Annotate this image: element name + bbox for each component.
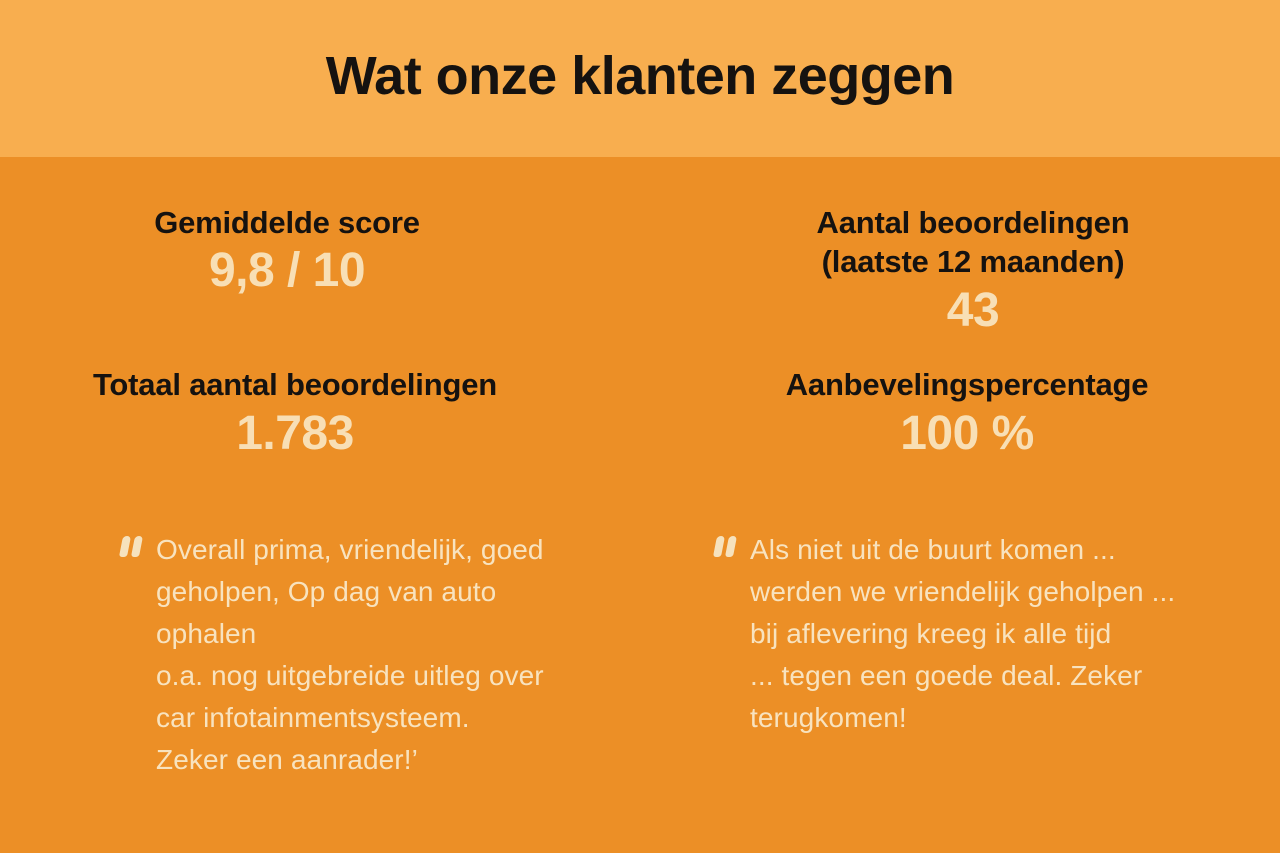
stat-label: Totaal aantal beoordelingen <box>93 365 497 404</box>
stat-value: 9,8 / 10 <box>209 244 365 298</box>
testimonial-right: Als niet uit de buurt komen ... werden w… <box>680 529 1240 781</box>
stat-review-count-12-months: Aantal beoordelingen (laatste 12 maanden… <box>640 203 1280 337</box>
page-title: Wat onze klanten zeggen <box>326 48 955 109</box>
double-quote-icon <box>120 536 146 566</box>
testimonial-text: Overall prima, vriendelijk, goed geholpe… <box>156 529 574 781</box>
stat-value: 43 <box>947 284 999 338</box>
testimonials: Overall prima, vriendelijk, goed geholpe… <box>0 461 1280 797</box>
stats-and-quotes-area: Gemiddelde score 9,8 / 10 Aantal beoorde… <box>0 157 1280 853</box>
stat-total-reviews: Totaal aantal beoordelingen 1.783 <box>0 365 640 460</box>
double-quote-icon <box>714 536 740 566</box>
stats-row-one: Gemiddelde score 9,8 / 10 Aantal beoorde… <box>0 157 1280 337</box>
stat-value: 100 % <box>900 407 1034 461</box>
stat-value: 1.783 <box>236 407 354 461</box>
header-banner: Wat onze klanten zeggen <box>0 0 1280 157</box>
stat-average-score: Gemiddelde score 9,8 / 10 <box>0 203 640 337</box>
testimonial-text: Als niet uit de buurt komen ... werden w… <box>750 529 1175 739</box>
stat-label: Aantal beoordelingen (laatste 12 maanden… <box>817 203 1130 282</box>
reviews-panel: Wat onze klanten zeggen Gemiddelde score… <box>0 0 1280 853</box>
testimonial-left: Overall prima, vriendelijk, goed geholpe… <box>40 529 600 781</box>
stat-label: Gemiddelde score <box>154 203 420 242</box>
stats-row-two: Totaal aantal beoordelingen 1.783 Aanbev… <box>0 337 1280 460</box>
stat-label: Aanbevelingspercentage <box>786 365 1149 404</box>
stat-recommendation-percentage: Aanbevelingspercentage 100 % <box>640 365 1280 460</box>
